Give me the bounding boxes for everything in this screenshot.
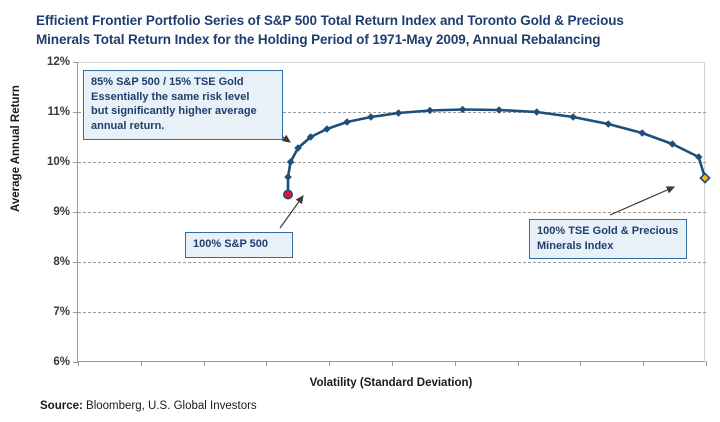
annotation-blend-line-2: Essentially the same risk level (91, 90, 275, 105)
y-axis-tick (73, 212, 78, 213)
annotation-gold-line-1: 100% TSE Gold & Precious (537, 224, 679, 239)
x-axis-tick (706, 361, 707, 366)
title-line-1: Efficient Frontier Portfolio Series of S… (36, 12, 696, 31)
chart-page: Efficient Frontier Portfolio Series of S… (0, 0, 720, 422)
gridline-y (78, 312, 706, 313)
y-axis-title: Average Annual Return (10, 85, 22, 212)
x-axis-tick (643, 361, 644, 366)
y-axis-label: 11% (48, 106, 70, 118)
gridline-y (78, 162, 706, 163)
annotation-blend-line-4: annual return. (91, 119, 275, 134)
source-label: Source: (40, 400, 83, 412)
title-line-2: Minerals Total Return Index for the Hold… (36, 31, 696, 50)
annotation-gold: 100% TSE Gold & Precious Minerals Index (529, 219, 687, 259)
y-axis-label: 12% (47, 56, 70, 68)
y-axis-tick (73, 112, 78, 113)
x-axis-tick (580, 361, 581, 366)
y-axis-label: 9% (53, 206, 70, 218)
x-axis-tick (141, 361, 142, 366)
x-axis-tick (204, 361, 205, 366)
y-axis-label: 6% (53, 356, 70, 368)
y-axis-label: 7% (53, 306, 70, 318)
annotation-blend-line-1: 85% S&P 500 / 15% TSE Gold (91, 75, 275, 90)
y-axis-tick (73, 62, 78, 63)
y-axis-tick (73, 312, 78, 313)
x-axis-tick (455, 361, 456, 366)
annotation-blend-line-3: but significantly higher average (91, 104, 275, 119)
x-axis-tick (266, 361, 267, 366)
x-axis-tick (78, 361, 79, 366)
annotation-sp500: 100% S&P 500 (185, 232, 293, 258)
x-axis-tick (392, 361, 393, 366)
y-axis-tick (73, 162, 78, 163)
y-axis-tick (73, 262, 78, 263)
x-axis-tick (518, 361, 519, 366)
source-note: Source: Bloomberg, U.S. Global Investors (40, 400, 257, 412)
page-title: Efficient Frontier Portfolio Series of S… (36, 12, 696, 49)
annotation-gold-line-2: Minerals Index (537, 239, 679, 254)
y-axis-label: 8% (53, 256, 70, 268)
gridline-y (78, 212, 706, 213)
gridline-y (78, 262, 706, 263)
annotation-blend-portfolio: 85% S&P 500 / 15% TSE Gold Essentially t… (83, 70, 283, 140)
annotation-sp500-line-1: 100% S&P 500 (193, 237, 285, 252)
x-axis-title: Volatility (Standard Deviation) (77, 377, 705, 389)
y-axis-label: 10% (47, 156, 70, 168)
source-text: Bloomberg, U.S. Global Investors (83, 400, 257, 412)
x-axis-tick (329, 361, 330, 366)
